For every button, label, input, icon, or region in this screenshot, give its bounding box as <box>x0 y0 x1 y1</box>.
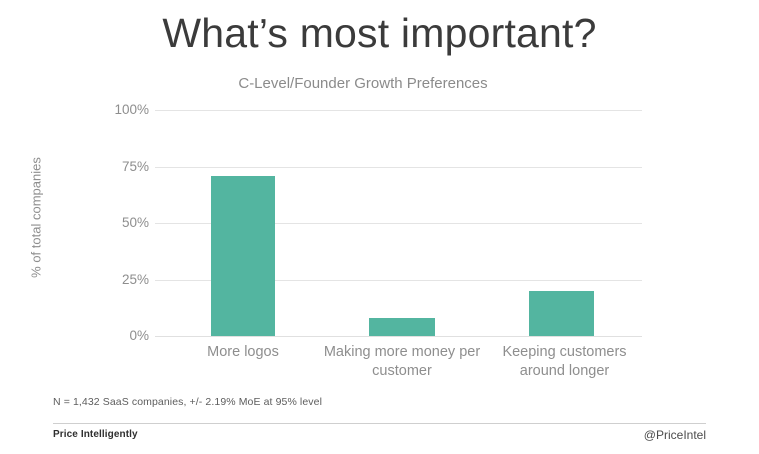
bar-more-logos[interactable] <box>211 176 275 336</box>
chart-footnote: N = 1,432 SaaS companies, +/- 2.19% MoE … <box>53 396 322 408</box>
x-label-keeping-customers: Keeping customers around longer <box>487 343 642 381</box>
footer-brand: Price Intelligently <box>53 429 138 440</box>
slide-canvas: What’s most important? C-Level/Founder G… <box>0 0 759 454</box>
gridline-75 <box>155 167 642 168</box>
chart-subtitle: C-Level/Founder Growth Preferences <box>80 74 646 94</box>
y-tick-25: 25% <box>104 273 149 287</box>
y-axis-label: % of total companies <box>29 128 44 308</box>
gridline-0 <box>155 336 642 337</box>
y-tick-0: 0% <box>104 329 149 343</box>
gridline-100 <box>155 110 642 111</box>
footer-social-handle: @PriceIntel <box>644 428 706 442</box>
y-tick-75: 75% <box>104 160 149 174</box>
chart-plot-area <box>155 110 642 336</box>
y-axis-ticks: 100% 75% 50% 25% 0% <box>104 110 149 336</box>
bar-making-more-money-per-customer[interactable] <box>369 318 435 336</box>
x-label-more-logos: More logos <box>173 343 313 362</box>
y-tick-50: 50% <box>104 216 149 230</box>
bar-keeping-customers-around-longer[interactable] <box>529 291 594 336</box>
x-label-making-more-money: Making more money per customer <box>315 343 489 381</box>
slide-title: What’s most important? <box>0 8 759 58</box>
footer-divider <box>53 423 706 424</box>
x-axis-labels: More logos Making more money per custome… <box>155 343 642 385</box>
y-tick-100: 100% <box>104 103 149 117</box>
